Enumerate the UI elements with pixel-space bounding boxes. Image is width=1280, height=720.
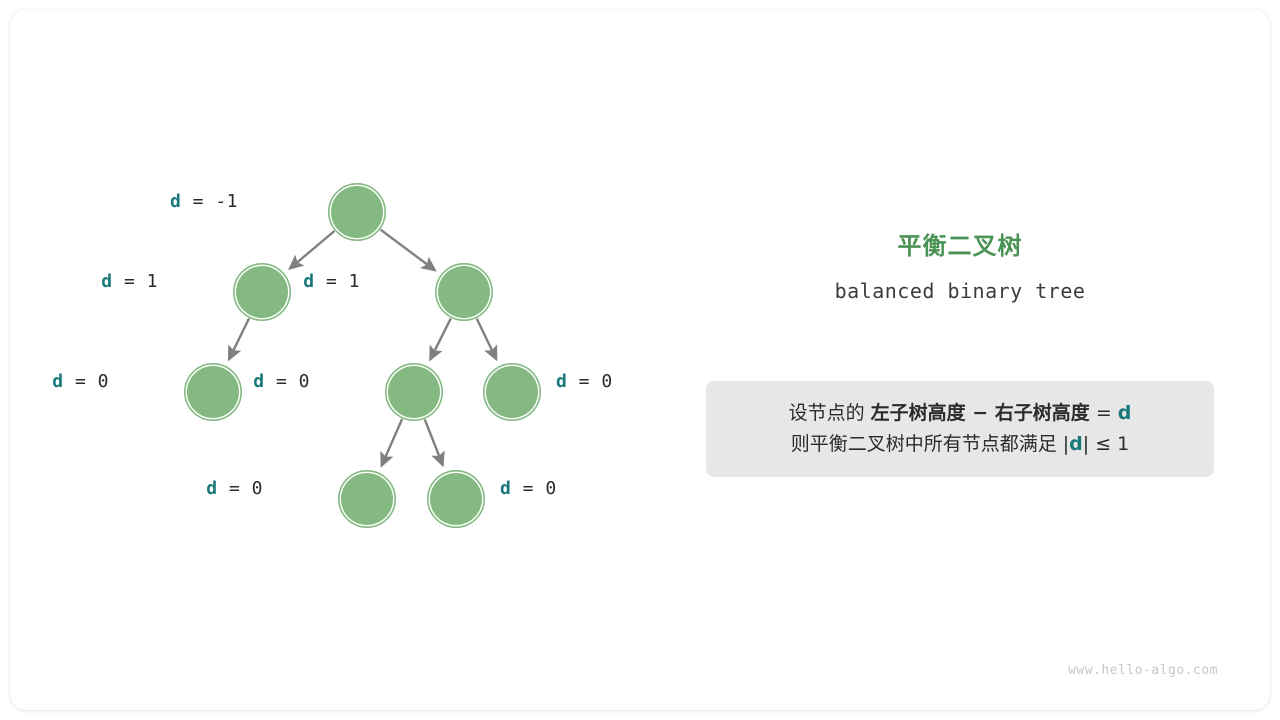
tree-node — [486, 366, 538, 418]
definition-bold-1: 左子树高度 − 右子树高度 — [871, 402, 1090, 424]
tree-node-layer — [185, 184, 540, 527]
node-balance-label: d = 0 — [10, 371, 310, 392]
tree-edge — [290, 231, 335, 269]
node-balance-label: d = -1 — [10, 191, 238, 212]
node-balance-value: = 0 — [511, 478, 556, 499]
node-balance-value: = -1 — [181, 191, 238, 212]
tree-edge — [381, 419, 402, 466]
node-balance-value: = 0 — [218, 478, 263, 499]
node-balance-value: = 1 — [315, 271, 360, 292]
node-balance-var: d — [303, 271, 314, 292]
tree-edge — [425, 419, 443, 465]
definition-equals-1: = — [1090, 402, 1118, 424]
tree-node — [430, 473, 482, 525]
definition-line-2: 则平衡二叉树中所有节点都满足 |d| ≤ 1 — [720, 429, 1200, 460]
node-balance-var: d — [170, 191, 181, 212]
tree-edge — [430, 318, 451, 359]
diagram-canvas: d = -1d = 1d = 1d = 0d = 0d = 0d = 0d = … — [0, 0, 1280, 720]
definition-prefix-2: 则平衡二叉树中所有节点都满足 — [791, 433, 1063, 455]
definition-prefix-1: 设节点的 — [789, 402, 871, 424]
panel-title: 平衡二叉树 — [706, 232, 1214, 261]
node-balance-var: d — [253, 371, 264, 392]
node-balance-value: = 0 — [567, 371, 612, 392]
tree-node — [388, 366, 440, 418]
node-balance-var: d — [206, 478, 217, 499]
tree-edge — [381, 230, 436, 271]
tree-node — [331, 186, 383, 238]
content-card: d = -1d = 1d = 1d = 0d = 0d = 0d = 0d = … — [10, 10, 1270, 710]
definition-line-1: 设节点的 左子树高度 − 右子树高度 = d — [720, 398, 1200, 429]
tree-node — [438, 266, 490, 318]
node-balance-label: d = 1 — [10, 271, 360, 292]
definition-box: 设节点的 左子树高度 − 右子树高度 = d 则平衡二叉树中所有节点都满足 |d… — [706, 381, 1214, 477]
watermark: www.hello-algo.com — [1068, 663, 1218, 678]
definition-suffix-2: ≤ 1 — [1089, 433, 1129, 455]
panel-subtitle: balanced binary tree — [706, 279, 1214, 303]
legend-panel: 平衡二叉树 balanced binary tree — [706, 232, 1214, 303]
definition-var-1: d — [1118, 402, 1132, 424]
node-balance-var: d — [556, 371, 567, 392]
tree-node — [341, 473, 393, 525]
node-balance-value: = 0 — [265, 371, 310, 392]
node-balance-label: d = 0 — [556, 371, 613, 392]
definition-var-2: d — [1069, 433, 1083, 455]
binary-tree-graphic — [70, 150, 670, 570]
node-balance-label: d = 0 — [10, 478, 263, 499]
tree-edge — [477, 319, 497, 360]
node-balance-var: d — [500, 478, 511, 499]
tree-edge — [229, 318, 249, 359]
node-balance-label: d = 0 — [500, 478, 557, 499]
